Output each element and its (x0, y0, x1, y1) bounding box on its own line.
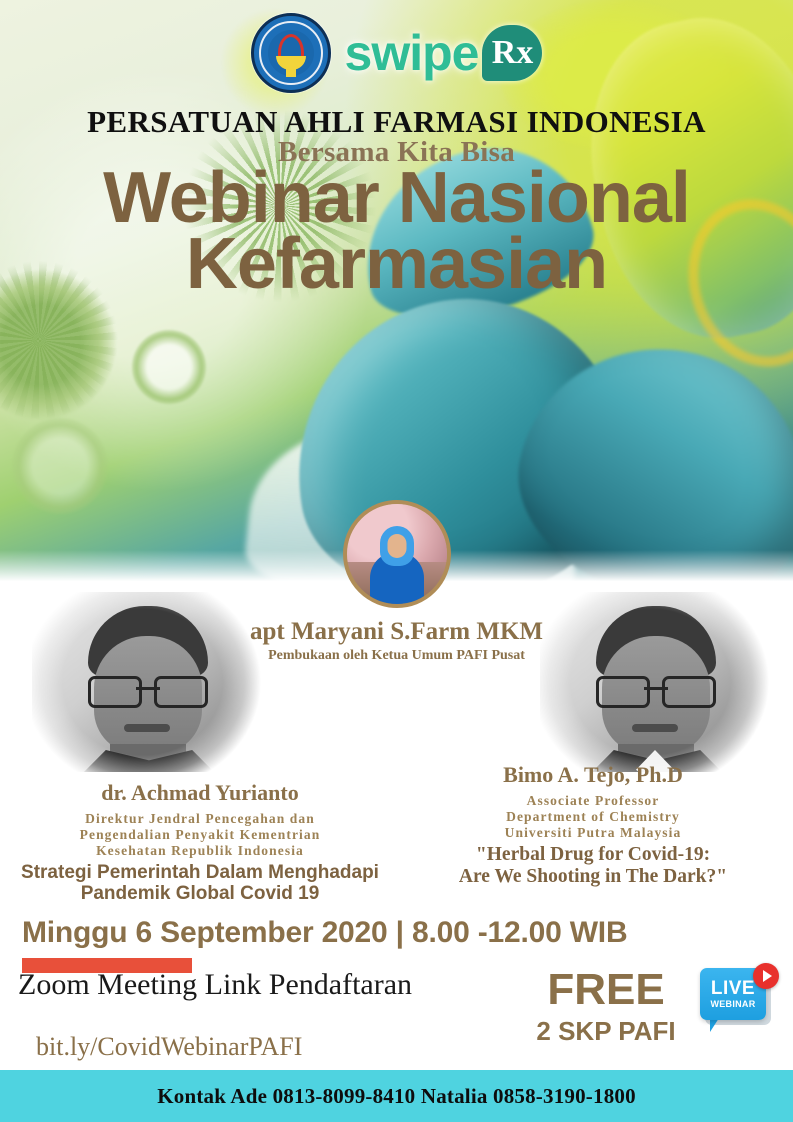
decorative-blob (132, 330, 206, 404)
registration-link[interactable]: bit.ly/CovidWebinarPAFI (36, 1032, 302, 1062)
topic-line: "Herbal Drug for Covid-19: (393, 844, 793, 866)
swiperx-logo: swipe Rx (345, 25, 543, 81)
contact-bar: Kontak Ade 0813-8099-8410 Natalia 0858-3… (0, 1070, 793, 1122)
title-line-2: Kefarmasian (0, 231, 793, 297)
logo-row: swipe Rx (0, 10, 793, 96)
speaker-topic: "Herbal Drug for Covid-19: Are We Shooti… (393, 844, 793, 888)
free-badge: FREE 2 SKP PAFI (520, 968, 692, 1047)
speech-bubble-tail-icon (710, 1018, 719, 1032)
speaker-name: dr. Achmad Yurianto (0, 780, 400, 806)
play-button-icon (753, 963, 779, 989)
rx-bubble-icon: Rx (482, 25, 542, 81)
schedule-line: Minggu 6 September 2020 | 8.00 -12.00 WI… (22, 916, 627, 950)
affiliation-line: Associate Professor (393, 793, 793, 809)
contact-text: Kontak Ade 0813-8099-8410 Natalia 0858-3… (157, 1084, 636, 1109)
topic-line: Strategi Pemerintah Dalam Menghadapi (0, 862, 400, 883)
affiliation-line: Pengendalian Penyakit Kementrian (0, 827, 400, 843)
eyeglasses-icon (596, 676, 716, 702)
pafi-logo (251, 13, 331, 93)
topic-line: Pandemik Global Covid 19 (0, 883, 400, 904)
speaker-affiliation: Associate Professor Department of Chemis… (393, 793, 793, 841)
webinar-poster: swipe Rx PERSATUAN AHLI FARMASI INDONESI… (0, 0, 793, 1122)
skp-label: 2 SKP PAFI (520, 1016, 692, 1047)
center-speaker-name: apt Maryani S.Farm MKM (0, 618, 793, 646)
speaker-name: Bimo A. Tejo, Ph.D (393, 762, 793, 788)
rx-label: Rx (492, 36, 534, 70)
organization-name: PERSATUAN AHLI FARMASI INDONESIA (0, 104, 793, 140)
affiliation-line: Department of Chemistry (393, 809, 793, 825)
avatar-face (387, 534, 406, 558)
page-title: Webinar Nasional Kefarmasian (0, 165, 793, 297)
free-label: FREE (520, 968, 692, 1012)
affiliation-line: Direktur Jendral Pencegahan dan (0, 811, 400, 827)
affiliation-line: Kesehatan Republik Indonesia (0, 843, 400, 859)
speaker-info-right: Bimo A. Tejo, Ph.D Associate Professor D… (393, 762, 793, 888)
photo-mouth (632, 724, 678, 732)
eyeglasses-icon (88, 676, 208, 702)
center-speaker: apt Maryani S.Farm MKM Pembukaan oleh Ke… (0, 500, 793, 664)
hygieia-bowl-icon (276, 56, 306, 70)
photo-mouth (124, 724, 170, 732)
swipe-wordmark: swipe (345, 28, 479, 78)
center-speaker-role: Pembukaan oleh Ketua Umum PAFI Pusat (0, 648, 793, 664)
webinar-label: WEBINAR (710, 1000, 755, 1009)
affiliation-line: Universiti Putra Malaysia (393, 825, 793, 841)
speaker-info-left: dr. Achmad Yurianto Direktur Jendral Pen… (0, 780, 400, 904)
live-label: LIVE (711, 979, 755, 998)
speaker-topic: Strategi Pemerintah Dalam Menghadapi Pan… (0, 862, 400, 905)
topic-line: Are We Shooting in The Dark?" (393, 866, 793, 888)
title-line-1: Webinar Nasional (0, 165, 793, 231)
pafi-logo-emblem (268, 30, 314, 76)
registration-label: Zoom Meeting Link Pendaftaran (18, 968, 412, 1002)
live-webinar-badge: LIVE WEBINAR (700, 968, 776, 1040)
speaker-affiliation: Direktur Jendral Pencegahan dan Pengenda… (0, 811, 400, 859)
avatar (343, 500, 451, 608)
